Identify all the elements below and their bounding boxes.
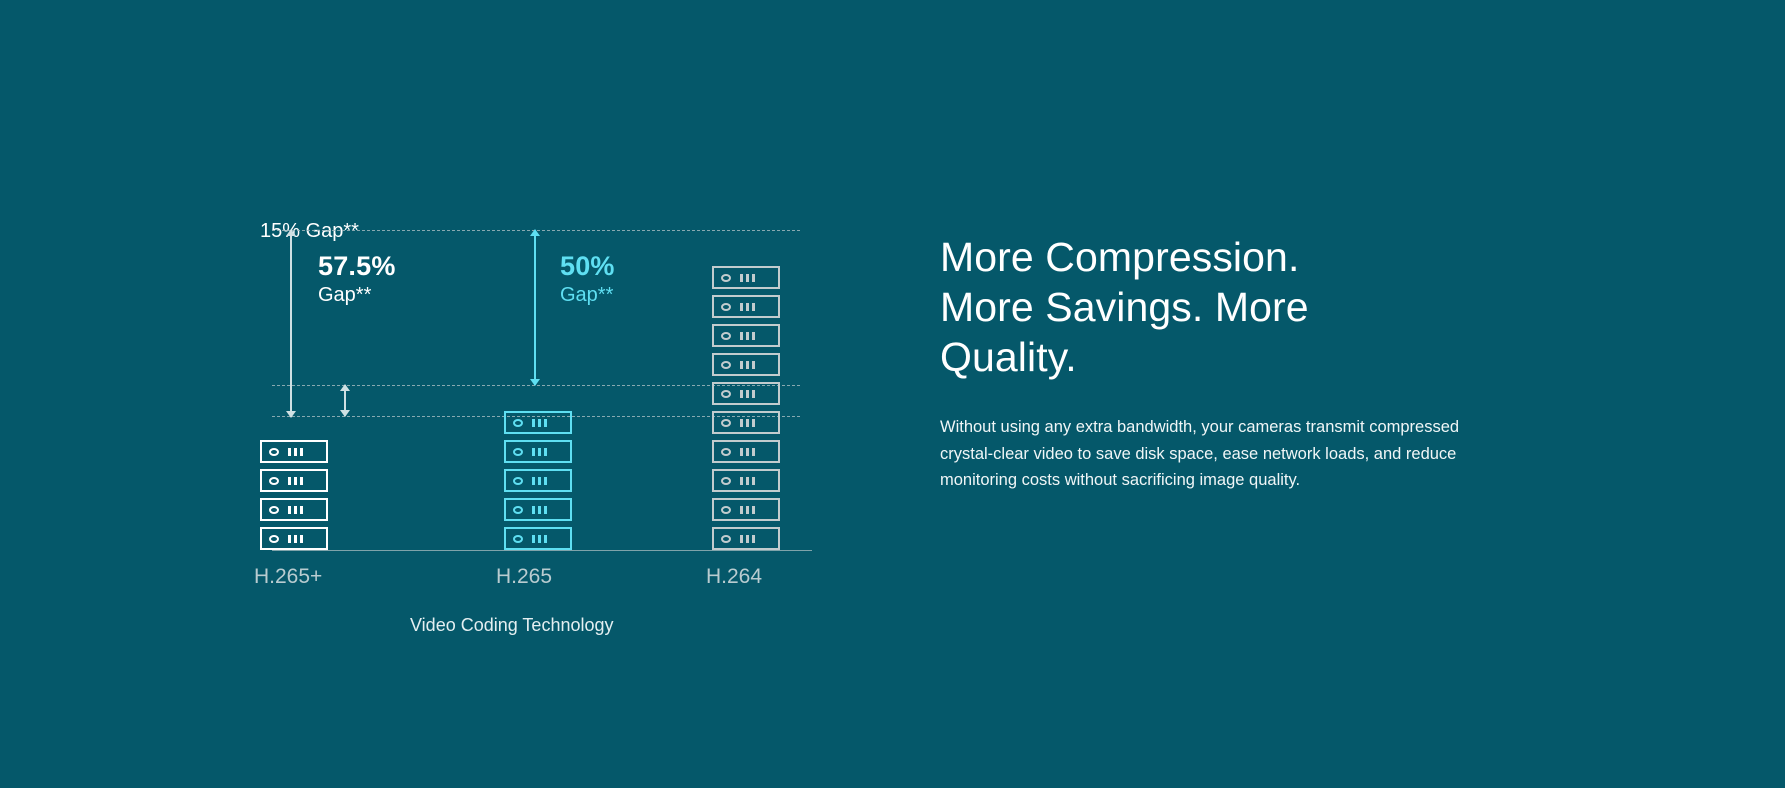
gap-sub-50: Gap** xyxy=(560,283,615,307)
axis-label-h265plus: H.265+ xyxy=(254,565,322,589)
server-bars-icon xyxy=(288,535,303,543)
gap-arrow-57-5-percent xyxy=(290,230,292,417)
server-icon xyxy=(504,498,572,521)
server-led-icon xyxy=(513,535,523,543)
server-stack-h265 xyxy=(504,411,572,550)
server-led-icon xyxy=(513,448,523,456)
gap-label-57-5-percent: 57.5% Gap** xyxy=(318,250,396,307)
server-bars-icon xyxy=(288,506,303,514)
gap-value-57-5: 57.5% xyxy=(318,250,396,283)
server-bars-icon xyxy=(288,448,303,456)
axis-label-h265: H.265 xyxy=(496,565,552,589)
server-bars-icon xyxy=(532,535,547,543)
server-stack-h265plus xyxy=(260,440,328,550)
marketing-copy-panel: More Compression. More Savings. More Qua… xyxy=(940,232,1500,494)
server-stack-h264 xyxy=(712,266,780,550)
server-icon xyxy=(712,411,780,434)
server-icon xyxy=(712,266,780,289)
server-led-icon xyxy=(721,477,731,485)
server-icon xyxy=(712,295,780,318)
server-led-icon xyxy=(721,361,731,369)
server-icon xyxy=(504,527,572,550)
server-icon xyxy=(260,527,328,550)
compression-chart-panel: 57.5% Gap** 50% Gap** 15% Gap** xyxy=(0,0,900,788)
chart-plot-area: 57.5% Gap** 50% Gap** 15% Gap** xyxy=(260,220,800,560)
server-icon xyxy=(712,382,780,405)
server-led-icon xyxy=(513,419,523,427)
server-led-icon xyxy=(721,274,731,282)
server-bars-icon xyxy=(740,390,755,398)
server-icon xyxy=(504,440,572,463)
gap-label-50-percent: 50% Gap** xyxy=(560,250,615,307)
server-bars-icon xyxy=(532,419,547,427)
server-bars-icon xyxy=(740,535,755,543)
server-icon xyxy=(504,469,572,492)
server-icon xyxy=(712,498,780,521)
page-title: More Compression. More Savings. More Qua… xyxy=(940,232,1370,382)
server-bars-icon xyxy=(740,419,755,427)
server-led-icon xyxy=(269,448,279,456)
server-led-icon xyxy=(721,390,731,398)
gap-sub-57-5: Gap** xyxy=(318,283,396,307)
server-bars-icon xyxy=(532,477,547,485)
server-led-icon xyxy=(269,535,279,543)
server-bars-icon xyxy=(740,303,755,311)
server-bars-icon xyxy=(740,477,755,485)
gap-arrow-15-percent xyxy=(344,385,346,416)
body-paragraph: Without using any extra bandwidth, your … xyxy=(940,414,1485,494)
server-led-icon xyxy=(721,535,731,543)
server-bars-icon xyxy=(740,361,755,369)
server-led-icon xyxy=(721,448,731,456)
server-led-icon xyxy=(269,477,279,485)
server-icon xyxy=(260,469,328,492)
server-led-icon xyxy=(513,477,523,485)
chart-baseline xyxy=(272,550,812,551)
page-root: 57.5% Gap** 50% Gap** 15% Gap** xyxy=(0,0,1785,788)
server-icon xyxy=(260,498,328,521)
server-led-icon xyxy=(721,332,731,340)
server-led-icon xyxy=(721,506,731,514)
chart-caption: Video Coding Technology xyxy=(410,615,614,636)
server-led-icon xyxy=(721,419,731,427)
gap-value-50: 50% xyxy=(560,250,615,283)
server-icon xyxy=(504,411,572,434)
server-led-icon xyxy=(721,303,731,311)
server-bars-icon xyxy=(740,448,755,456)
gap-arrow-50-percent xyxy=(534,230,536,385)
server-icon xyxy=(712,324,780,347)
server-icon xyxy=(712,353,780,376)
server-bars-icon xyxy=(532,506,547,514)
axis-label-h264: H.264 xyxy=(706,565,762,589)
server-led-icon xyxy=(513,506,523,514)
server-bars-icon xyxy=(740,332,755,340)
server-bars-icon xyxy=(740,274,755,282)
server-bars-icon xyxy=(532,448,547,456)
server-icon xyxy=(712,440,780,463)
server-led-icon xyxy=(269,506,279,514)
server-bars-icon xyxy=(288,477,303,485)
server-icon xyxy=(260,440,328,463)
server-bars-icon xyxy=(740,506,755,514)
server-icon xyxy=(712,469,780,492)
server-icon xyxy=(712,527,780,550)
